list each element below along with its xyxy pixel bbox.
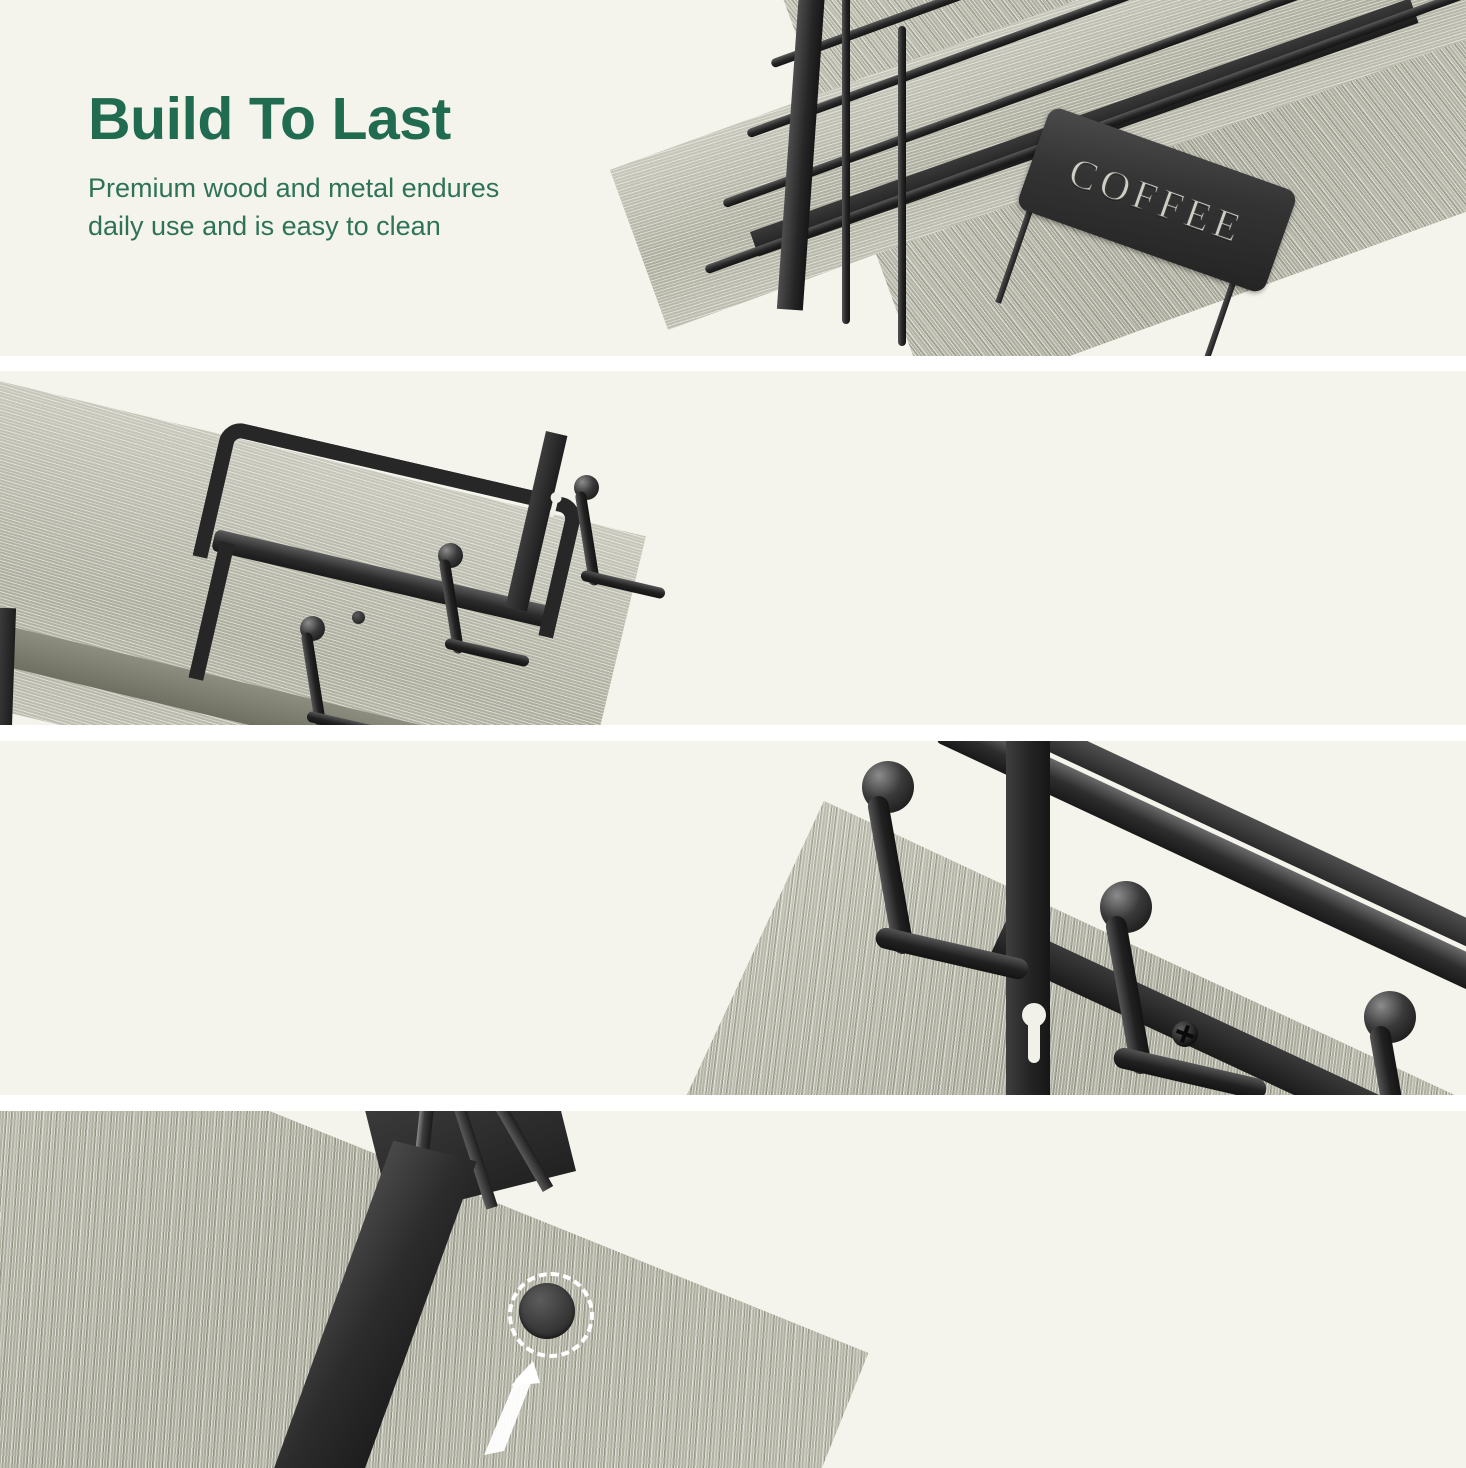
feature-heading: Build To Last	[88, 90, 499, 149]
feature-panel-build-to-last: COFFEE Build To Last Premium wood and me…	[0, 0, 1466, 356]
feature-body: Premium wood and metal endures daily use…	[88, 169, 499, 246]
keyhole-slot-stem	[1028, 1018, 1040, 1063]
mounting-screw	[352, 611, 365, 624]
feature-body-line: daily use and is easy to clean	[88, 211, 441, 241]
wire-post	[842, 0, 850, 324]
feature-panel-anti-skid-pads: Anti-Skid Pads Ensuring stability and pr…	[0, 1111, 1466, 1468]
keyhole-slot	[1022, 1003, 1046, 1065]
feature-panel-robust-mug-hooks: Robust Mug Hooks 12 hooks ensure easy ac…	[0, 741, 1466, 1095]
product-feature-infographic: COFFEE Build To Last Premium wood and me…	[0, 0, 1466, 1468]
callout-arrow-icon	[470, 1339, 560, 1459]
wood-shelf-surface	[685, 801, 1466, 1095]
feature-copy-build-to-last: Build To Last Premium wood and metal end…	[88, 90, 499, 246]
wire-post	[898, 26, 906, 346]
feature-body-line: Premium wood and metal endures	[88, 173, 499, 203]
product-photo-handle	[0, 371, 700, 725]
product-photo-coffee-sign: COFFEE	[780, 0, 1466, 356]
mounting-screw	[1172, 1021, 1198, 1047]
keyhole-slot-stem	[549, 498, 558, 517]
product-photo-anti-skid-pad	[0, 1111, 733, 1468]
feature-panel-portable-handle: Portable Handle User-friendly design enh…	[0, 371, 1466, 725]
product-photo-mug-hooks	[800, 741, 1466, 1095]
